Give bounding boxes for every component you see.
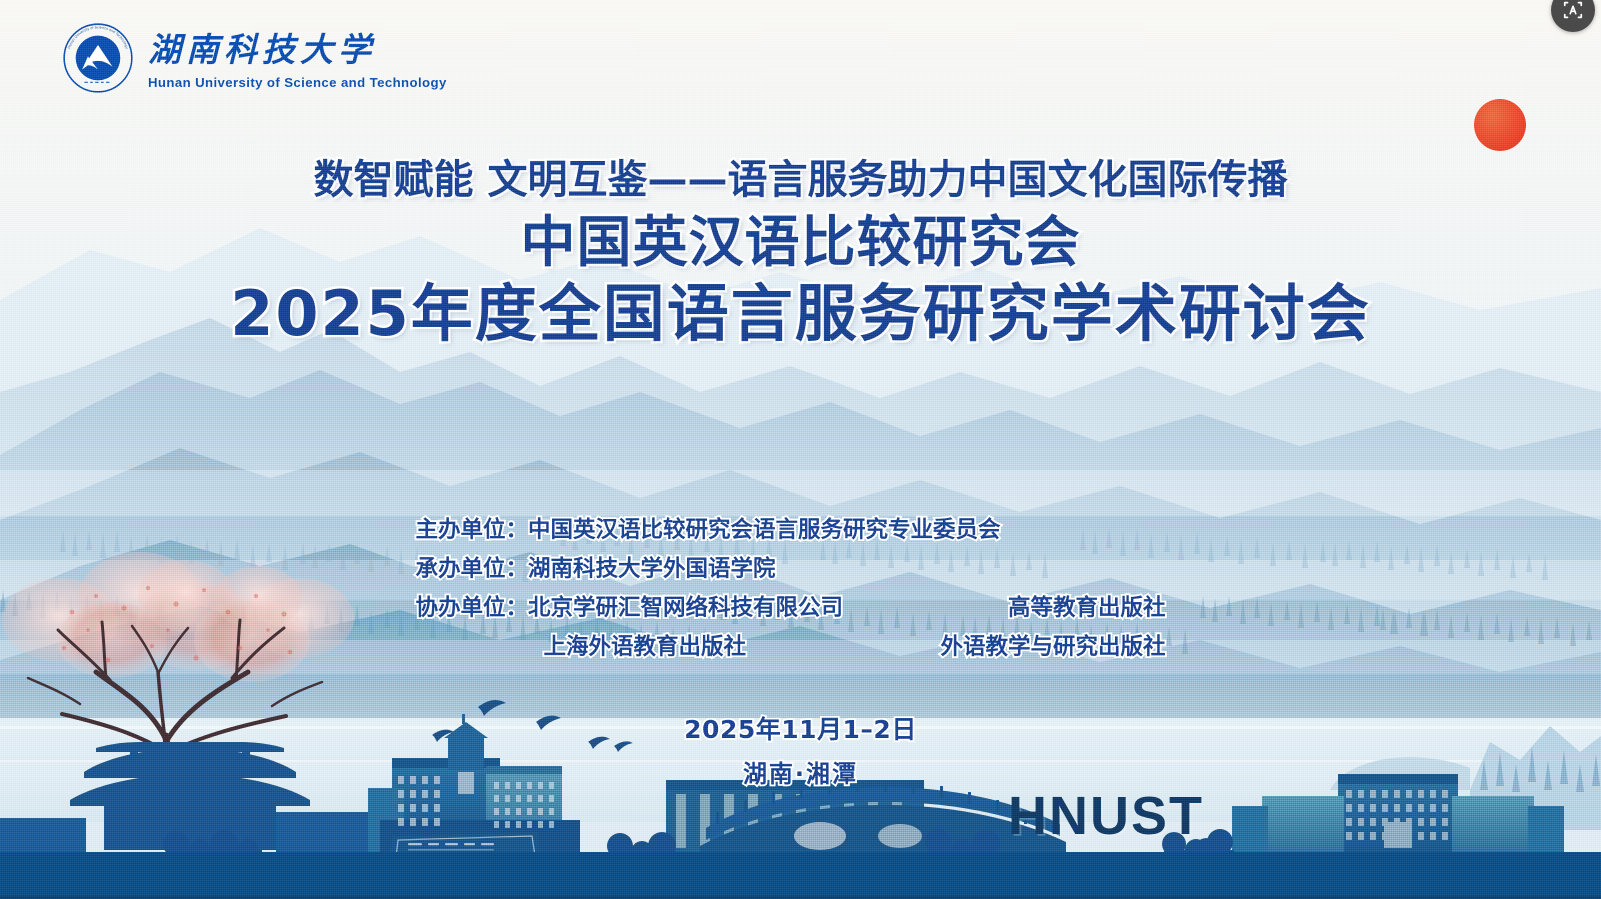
conference-association-name: 中国英汉语比较研究会	[0, 212, 1601, 274]
organizer-row: 承办单位： 湖南科技大学外国语学院	[416, 551, 1186, 583]
event-place: 湖南·湘潭	[0, 754, 1601, 789]
university-name-en: Hunan University of Science and Technolo…	[148, 75, 447, 90]
organizer-row: 主办单位： 中国英汉语比较研究会语言服务研究专业委员会	[416, 512, 1186, 544]
conference-title: 2025年度全国语言服务研究学术研讨会	[0, 279, 1601, 348]
event-date: 2025年11月1–2日	[0, 710, 1601, 746]
organizer-value-secondary: 高等教育出版社	[1008, 590, 1186, 622]
organizer-row: 协办单位： 北京学研汇智网络科技有限公司 高等教育出版社	[416, 590, 1186, 622]
bottom-band	[0, 852, 1601, 899]
svg-text:湖南科技大学: 湖南科技大学	[148, 30, 376, 69]
organizer-value: 上海外语教育出版社	[416, 629, 747, 661]
organizer-label: 承办单位：	[416, 551, 529, 583]
organizer-label: 协办单位：	[416, 590, 529, 622]
organizer-value-secondary: 外语教学与研究出版社	[940, 629, 1185, 661]
organizer-value: 湖南科技大学外国语学院	[528, 551, 776, 583]
hnust-wordmark: HNUST	[1008, 785, 1204, 847]
organizer-row: 上海外语教育出版社 外语教学与研究出版社	[416, 629, 1186, 661]
sun-decoration	[1474, 99, 1526, 151]
organizer-label: 主办单位：	[416, 512, 529, 544]
university-logo: Hunan University of Science and Technolo…	[62, 22, 447, 94]
event-details-block: 2025年11月1–2日 湖南·湘潭	[0, 710, 1601, 789]
banner-canvas: Hunan University of Science and Technolo…	[0, 0, 1601, 899]
scan-text-icon	[1562, 0, 1584, 21]
organizers-block: 主办单位： 中国英汉语比较研究会语言服务研究专业委员会 承办单位： 湖南科技大学…	[0, 512, 1601, 661]
organizer-value: 中国英汉语比较研究会语言服务研究专业委员会	[528, 512, 1001, 544]
university-emblem-icon: Hunan University of Science and Technolo…	[62, 22, 134, 94]
conference-theme-subtitle: 数智赋能 文明互鉴——语言服务助力中国文化国际传播	[0, 158, 1601, 203]
university-name-cn-calligraphy: 湖南科技大学	[148, 27, 390, 73]
headline-block: 数智赋能 文明互鉴——语言服务助力中国文化国际传播 中国英汉语比较研究会 202…	[0, 158, 1601, 349]
organizer-value: 北京学研汇智网络科技有限公司	[528, 590, 843, 622]
